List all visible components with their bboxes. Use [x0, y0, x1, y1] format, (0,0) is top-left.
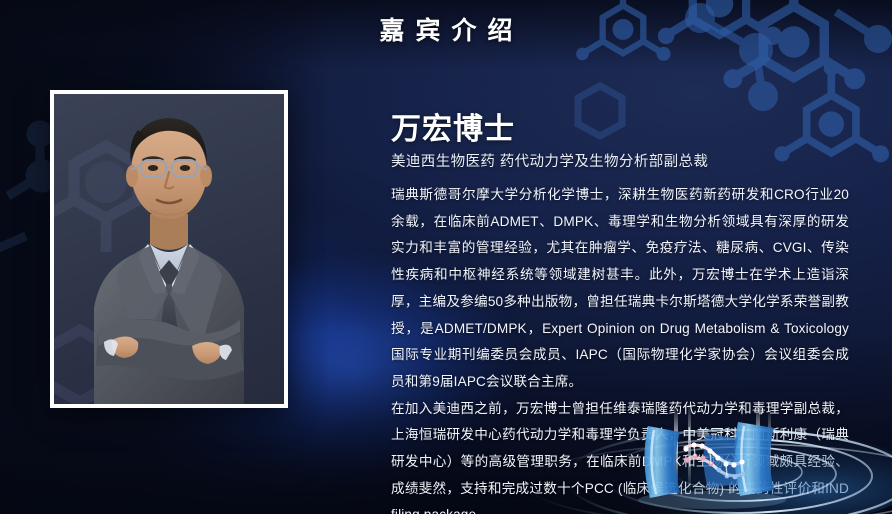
speaker-photo-frame	[50, 90, 288, 408]
bio-paragraph-1: 瑞典斯德哥尔摩大学分析化学博士，深耕生物医药新药研发和CRO行业20余载，在临床…	[391, 182, 849, 396]
speaker-role: 美迪西生物医药 药代动力学及生物分析部副总裁	[391, 150, 708, 171]
bio-paragraph-2: 在加入美迪西之前，万宏博士曾担任维泰瑞隆药代动力学和毒理学副总裁，上海恒瑞研发中…	[391, 396, 849, 514]
guest-introduction-slide: 嘉宾介绍	[0, 0, 892, 514]
speaker-bio: 瑞典斯德哥尔摩大学分析化学博士，深耕生物医药新药研发和CRO行业20余载，在临床…	[391, 182, 849, 514]
speaker-photo	[54, 94, 284, 404]
speaker-portrait-illustration	[54, 94, 284, 404]
speaker-name: 万宏博士	[391, 104, 515, 148]
page-title: 嘉宾介绍	[0, 11, 892, 47]
